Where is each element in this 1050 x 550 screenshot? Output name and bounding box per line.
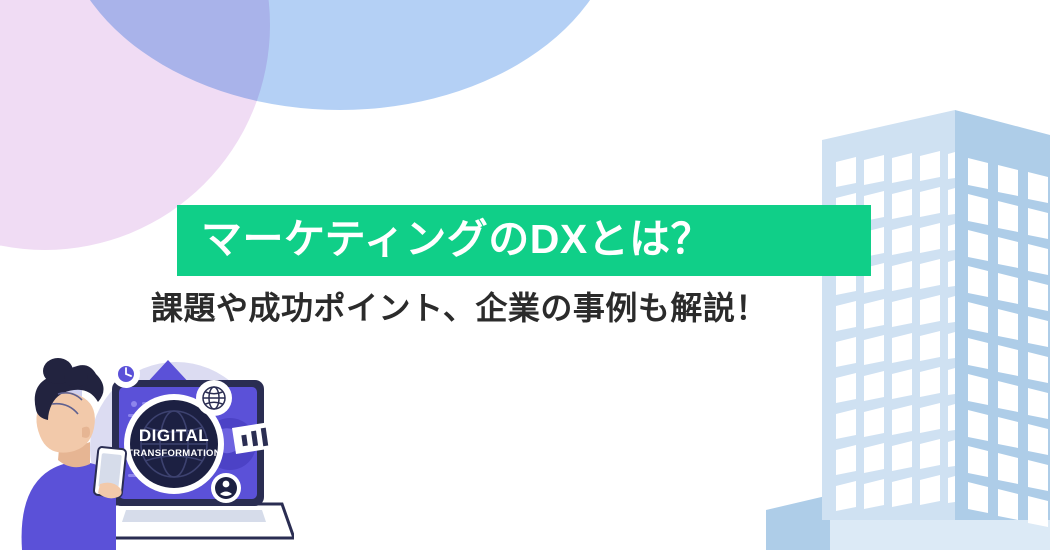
page-title: マーケティングのDXとは？ (201, 216, 712, 262)
user-icon (211, 473, 241, 503)
badge-subtitle: TRANSFORMATION (127, 448, 221, 459)
headline-bar: マーケティングのDXとは？ (177, 205, 871, 276)
globe-icon (196, 380, 232, 416)
headline-block: マーケティングのDXとは？ 課題や成功ポイント、企業の事例も解説！ (177, 205, 877, 330)
hero-banner: マーケティングのDXとは？ 課題や成功ポイント、企業の事例も解説！ (0, 0, 1050, 550)
laptop-keyboard (122, 510, 266, 522)
person-with-laptop-illustration: DIGITAL TRANSFORMATION (14, 352, 294, 550)
page-subtitle: 課題や成功ポイント、企業の事例も解説！ (151, 288, 877, 330)
badge-title: DIGITAL (139, 426, 209, 445)
clock-icon (112, 360, 140, 388)
